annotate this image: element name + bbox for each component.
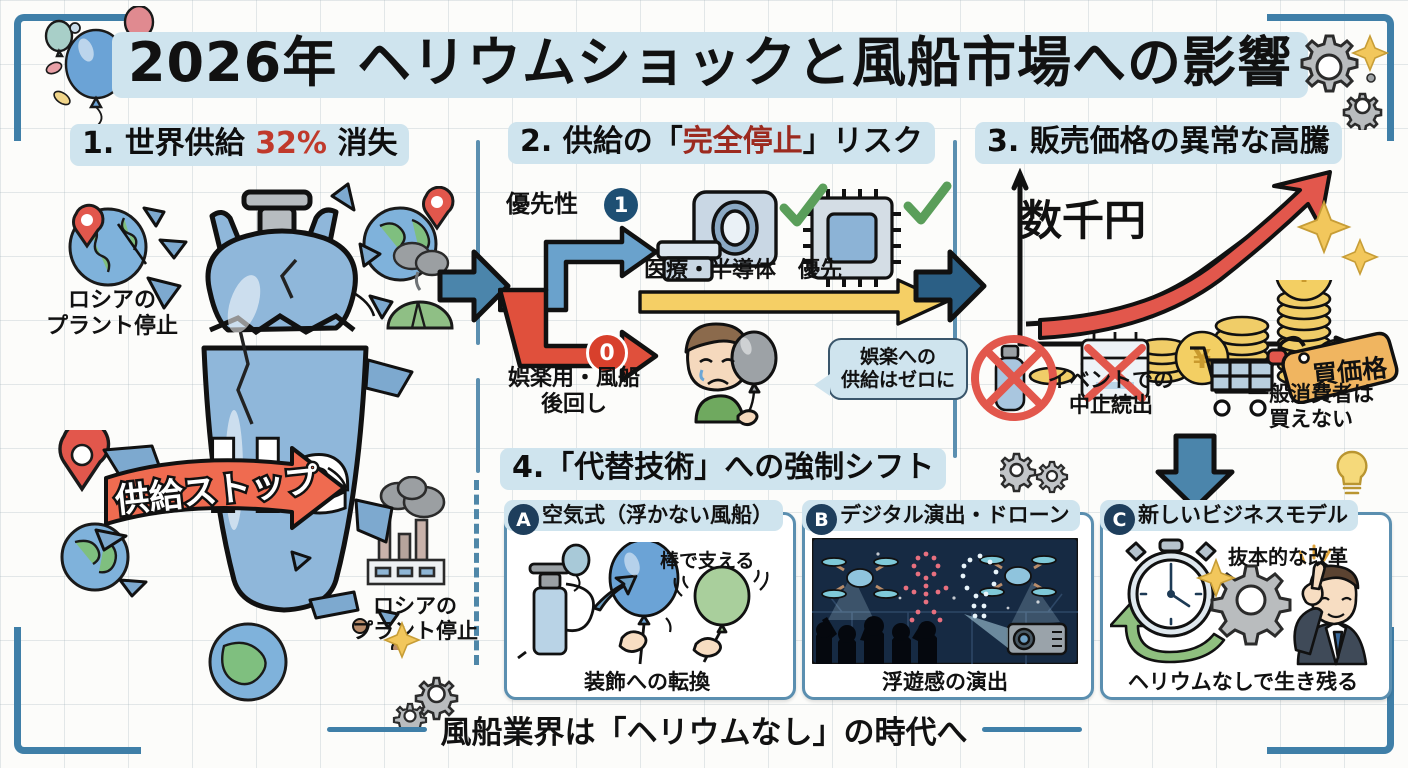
- label-entertainment-deferred: 娯楽用・風船 後回し: [508, 366, 640, 418]
- footer-bar: 風船業界は「ヘリウムなし」の時代へ: [0, 707, 1408, 752]
- glass-shards-icon: [60, 180, 460, 650]
- footer-rule-right: [982, 727, 1082, 732]
- section-1-text-b: 消失: [337, 126, 397, 161]
- infographic-canvas: 2026年 ヘリウムショックと風船市場への影響 1. 世界供給 32% 消失 2…: [0, 0, 1408, 768]
- section-4-prefix: 4.: [512, 450, 544, 485]
- section-4-text: 「代替技術」への強制シフト: [544, 450, 934, 485]
- section-1-heading: 1. 世界供給 32% 消失: [70, 124, 409, 166]
- divider-1-2-lower: [476, 378, 480, 473]
- speech-bubble-zero-supply: 娯楽への 供給はゼロに: [828, 338, 968, 400]
- card-a-badge: A: [508, 504, 539, 535]
- page-title: 2026年 ヘリウムショックと風船市場への影響: [112, 32, 1308, 98]
- label-russia-plant-left: ロシアの プラント停止: [46, 288, 178, 340]
- sparkle-icon: [382, 620, 422, 660]
- card-b-title: デジタル演出・ドローン: [802, 500, 1080, 531]
- no-cylinder-icon: [968, 330, 1060, 422]
- section-2-heading: 2. 供給の「完全停止」リスク: [508, 122, 935, 164]
- section-2-prefix: 2.: [520, 124, 552, 159]
- supply-stop-banner: 供給ストップ: [100, 442, 400, 542]
- section-3-text-a: 販売価格の異常な高騰: [1030, 124, 1330, 159]
- gear-icon: [1000, 448, 1072, 494]
- card-c-title: 新しいビジネスモデル: [1100, 500, 1358, 531]
- section-4-heading: 4.「代替技術」への強制シフト: [500, 448, 946, 490]
- card-a-caption: 装飾への転換: [504, 666, 790, 696]
- section-2-highlight: 完全停止: [683, 124, 803, 159]
- drone-show-icon: [812, 538, 1078, 664]
- section-2-text-b: 」リスク: [803, 124, 923, 159]
- card-c-caption: ヘリウムなしで生き残る: [1100, 666, 1386, 696]
- check-icon: [900, 180, 954, 230]
- card-b-caption: 浮遊感の演出: [802, 666, 1088, 696]
- sparkle-icon: [1294, 196, 1384, 286]
- lightbulb-icon: [1330, 448, 1374, 498]
- label-priority: 優先性: [506, 190, 578, 218]
- section-3-heading: 3. 販売価格の異常な高騰: [975, 122, 1342, 164]
- card-c-badge: C: [1104, 504, 1135, 535]
- section-1-text-a: 世界供給: [125, 126, 245, 161]
- footer-text: 風船業界は「ヘリウムなし」の時代へ: [441, 707, 968, 752]
- card-b-badge: B: [806, 504, 837, 535]
- card-c-inner-label: 抜本的な改革: [1228, 546, 1348, 570]
- section-1-prefix: 1.: [82, 126, 114, 161]
- priority-badge-1: 1: [604, 188, 638, 222]
- title-banner: 2026年 ヘリウムショックと風船市場への影響: [140, 26, 1280, 104]
- section-2-text-a: 供給の「: [563, 124, 683, 159]
- gear-icon: [1290, 22, 1395, 130]
- chart-callout-thousands-yen: 数千円: [1020, 196, 1146, 246]
- card-a-inner-label: 棒で支える: [660, 550, 754, 572]
- sad-boy-icon: [666, 318, 826, 436]
- check-icon: [776, 182, 830, 232]
- label-consumer-cannot-buy: 一般消費者は 買えない: [1248, 382, 1374, 432]
- card-a-title: 空気式（浮かない風船）: [504, 500, 783, 531]
- label-event-cancellations: イベントでの 中止続出: [1048, 368, 1174, 418]
- arrow-right-icon: [912, 246, 990, 326]
- section-3-prefix: 3.: [987, 124, 1019, 159]
- section-1-highlight: 32%: [255, 126, 327, 161]
- footer-rule-left: [327, 727, 427, 732]
